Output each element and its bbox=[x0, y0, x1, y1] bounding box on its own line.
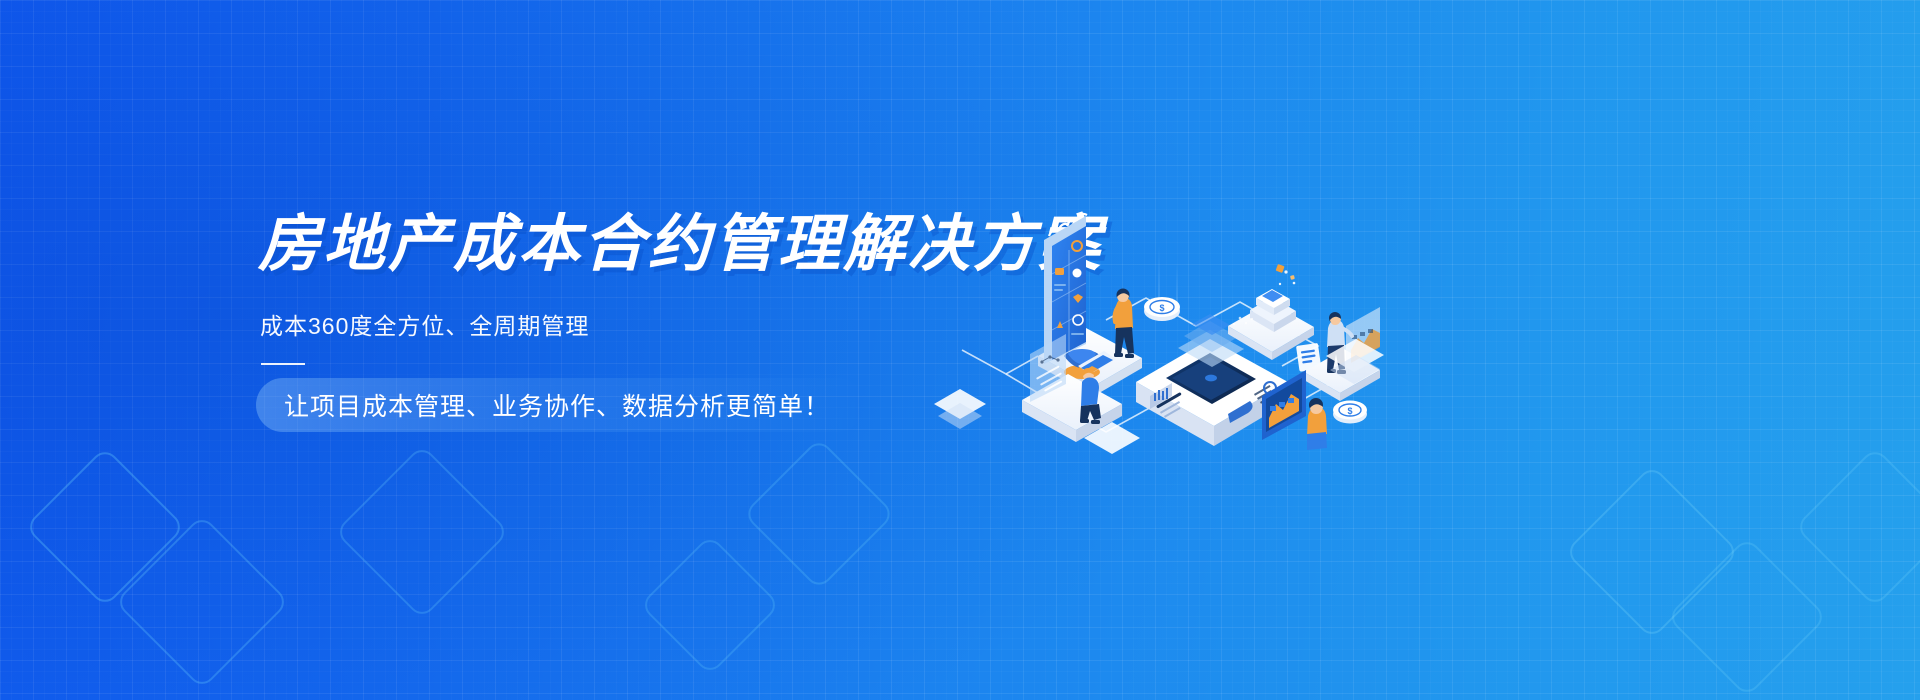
tagline-pill: 让项目成本管理、业务协作、数据分析更简单！ bbox=[256, 378, 864, 432]
isometric-illustration-svg: $ bbox=[910, 150, 1380, 450]
title-divider bbox=[261, 363, 305, 365]
hero-text-block: 房地产成本合约管理解决方案 成本360度全方位、全周期管理 bbox=[258, 212, 1018, 365]
folder-icon bbox=[1055, 268, 1064, 275]
businessman-figure bbox=[1114, 289, 1134, 359]
bottom-woman-figure bbox=[1307, 398, 1327, 450]
coin-dollar-icon-2: $ bbox=[1333, 401, 1367, 424]
tagline-text: 让项目成本管理、业务协作、数据分析更简单！ bbox=[284, 387, 830, 423]
decorative-diamond-4 bbox=[639, 534, 780, 675]
hero-banner: 房地产成本合约管理解决方案 成本360度全方位、全周期管理 让项目成本管理、业务… bbox=[0, 0, 1920, 700]
decorative-diamond-3 bbox=[334, 444, 509, 619]
decorative-diamond-8 bbox=[1794, 446, 1920, 607]
coin-symbol: $ bbox=[1159, 303, 1164, 313]
coin-dollar-icon-1: $ bbox=[1144, 297, 1180, 321]
page-subtitle: 成本360度全方位、全周期管理 bbox=[260, 307, 1018, 341]
page-title: 房地产成本合约管理解决方案 bbox=[258, 212, 1018, 279]
floating-platform-left bbox=[934, 389, 986, 429]
gear-icon bbox=[1073, 269, 1082, 278]
decorative-diamond-5 bbox=[743, 438, 896, 591]
decorative-diamond-1 bbox=[24, 446, 185, 607]
coin-symbol-2: $ bbox=[1347, 406, 1352, 416]
decorative-diamond-6 bbox=[1564, 464, 1739, 639]
hero-illustration: $ bbox=[910, 150, 1380, 450]
decorative-diamond-7 bbox=[1666, 536, 1827, 697]
decorative-diamond-2 bbox=[114, 514, 289, 689]
